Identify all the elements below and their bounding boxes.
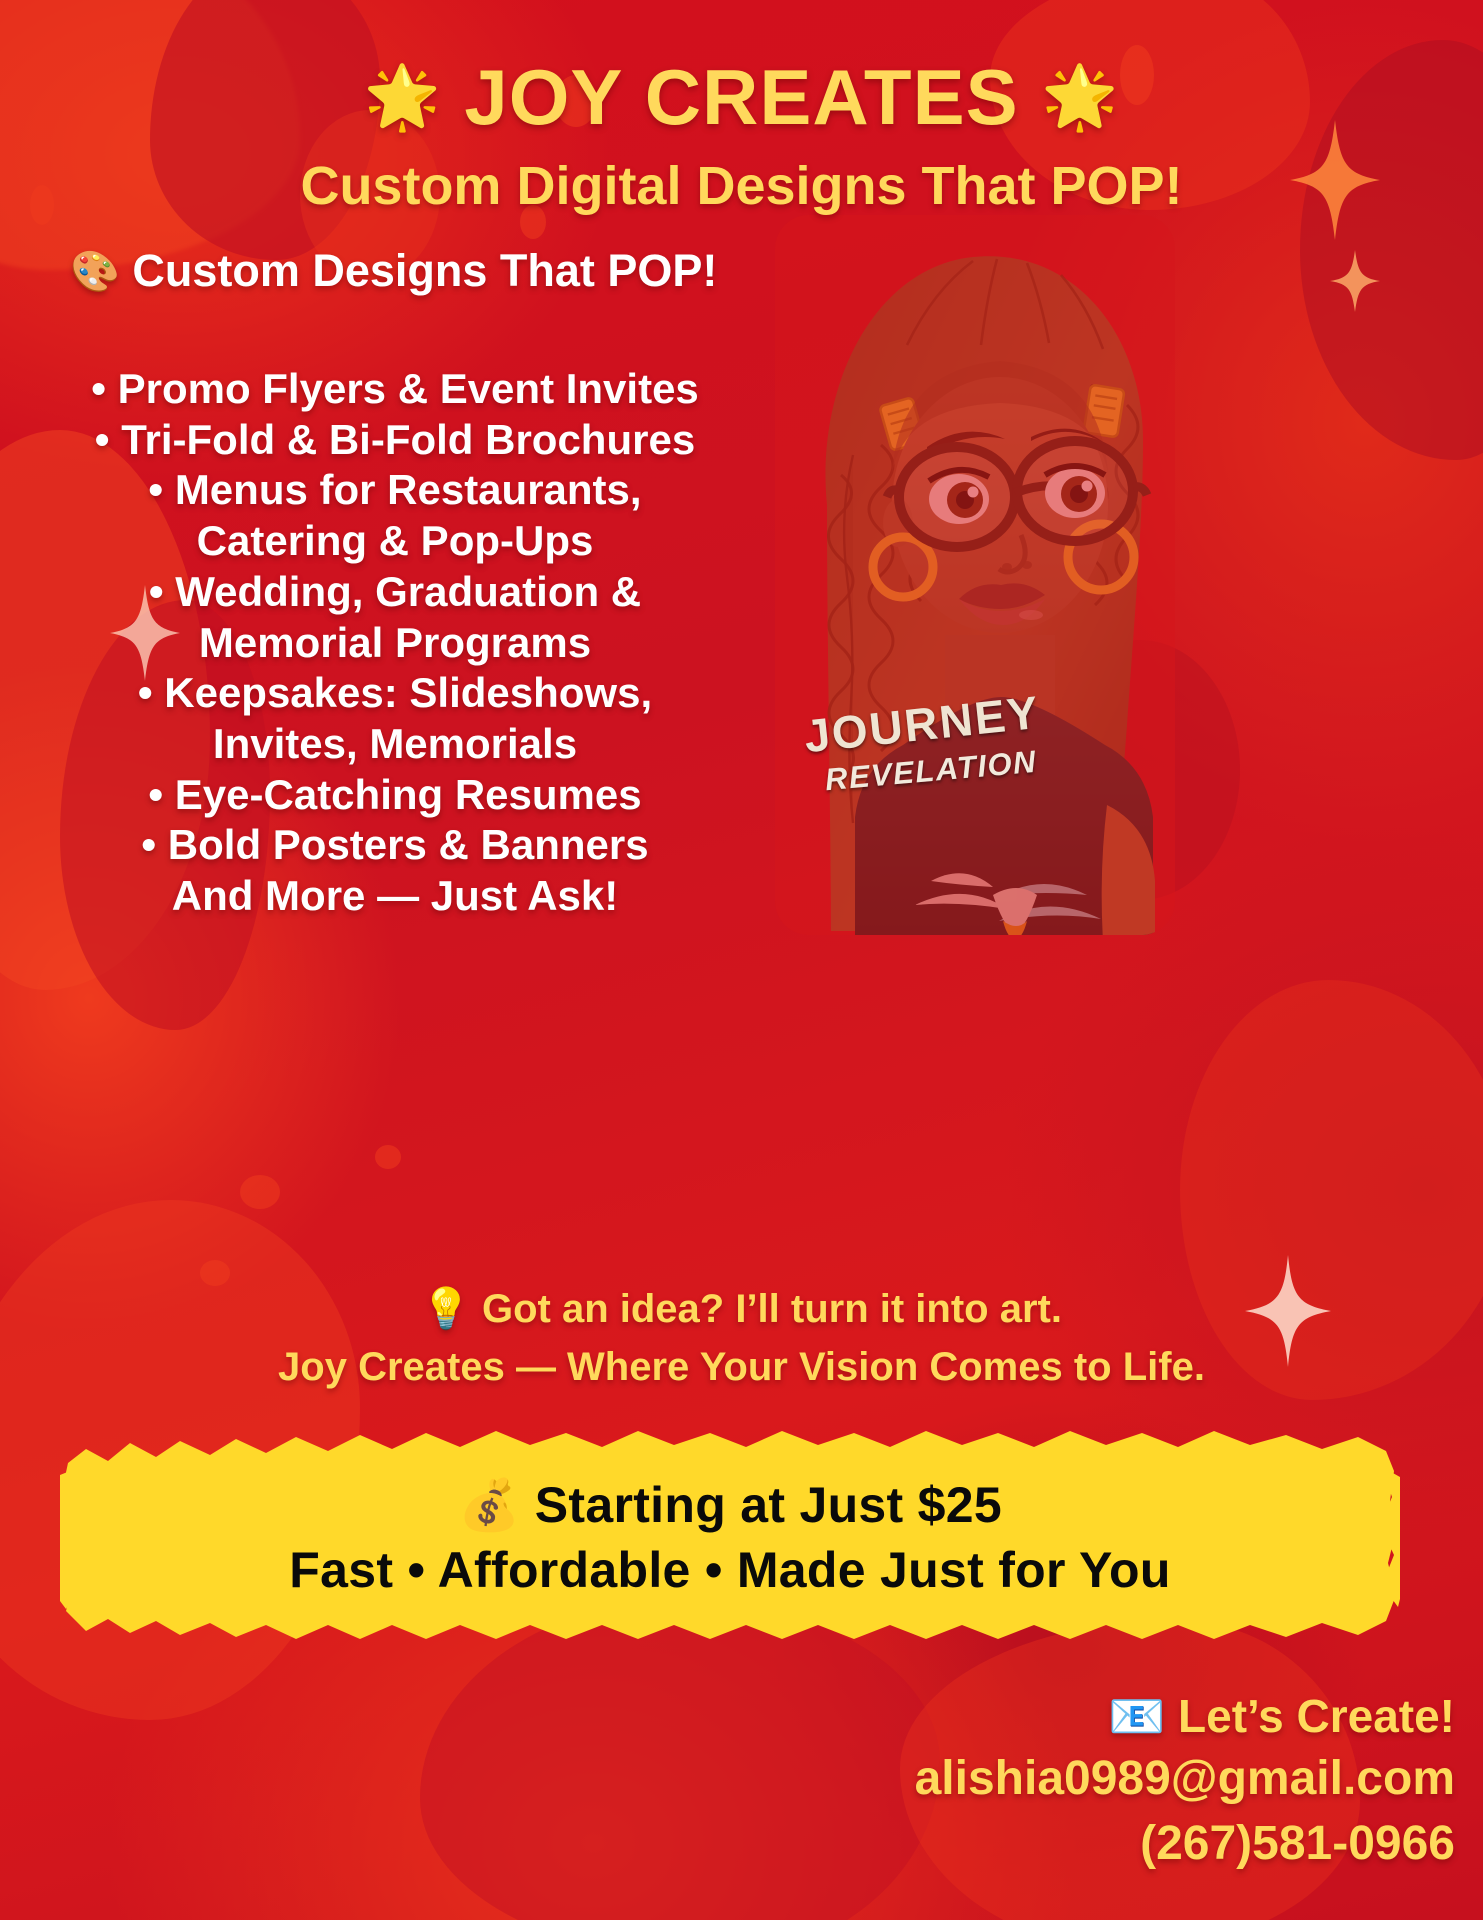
contact-cta: 📧 Let’s Create! (0, 1685, 1455, 1747)
list-item: • Eye-Catching Resumes (0, 771, 790, 820)
lead-line: 🎨 Custom Designs That POP! (70, 245, 717, 297)
banner-text-block: 💰 Starting at Just $25 Fast • Affordable… (60, 1405, 1400, 1670)
bullet-char: • (148, 771, 163, 818)
star-icon-left: 🌟 (363, 63, 441, 132)
list-item-and-more: And More — Just Ask! (0, 872, 790, 921)
email-envelope-icon: 📧 (1108, 1690, 1165, 1742)
list-item: • Bold Posters & Banners (0, 821, 790, 870)
list-item-label: Wedding, Graduation & (175, 568, 641, 615)
tagline-line-2: Joy Creates — Where Your Vision Comes to… (0, 1338, 1483, 1396)
lead-text: Custom Designs That POP! (132, 245, 717, 296)
price-banner: 💰 Starting at Just $25 Fast • Affordable… (60, 1405, 1400, 1670)
list-item: • Menus for Restaurants, (0, 466, 790, 515)
palette-icon: 🎨 (70, 250, 120, 294)
contact-email[interactable]: alishia0989@gmail.com (0, 1747, 1455, 1812)
list-item-label: Eye-Catching Resumes (175, 771, 642, 818)
tagline-line-1: 💡 Got an idea? I’ll turn it into art. (0, 1280, 1483, 1338)
bullet-char: • (91, 365, 106, 412)
list-item-label: Promo Flyers & Event Invites (118, 365, 699, 412)
benefits-line: Fast • Affordable • Made Just for You (289, 1541, 1170, 1599)
page-subtitle: Custom Digital Designs That POP! (0, 155, 1483, 217)
tagline-block: 💡 Got an idea? I’ll turn it into art. Jo… (0, 1280, 1483, 1396)
bullet-char: • (148, 466, 163, 513)
services-list: • Promo Flyers & Event Invites • Tri-Fol… (0, 365, 790, 923)
list-item: • Tri-Fold & Bi-Fold Brochures (0, 416, 790, 465)
contact-block: 📧 Let’s Create! alishia0989@gmail.com (2… (0, 1685, 1455, 1877)
list-item-continuation: Memorial Programs (0, 619, 790, 668)
price-text: Starting at Just $25 (535, 1477, 1002, 1533)
star-icon-right: 🌟 (1041, 63, 1119, 132)
bullet-char: • (141, 821, 156, 868)
bullet-char: • (138, 669, 153, 716)
contact-phone[interactable]: (267)581-0966 (0, 1812, 1455, 1877)
tagline-text-1: Got an idea? I’ll turn it into art. (482, 1287, 1062, 1331)
list-item-label: Bold Posters & Banners (168, 821, 649, 868)
bullet-char: • (149, 568, 164, 615)
list-item-continuation: Invites, Memorials (0, 720, 790, 769)
price-line: 💰 Starting at Just $25 (458, 1476, 1002, 1535)
list-item: • Promo Flyers & Event Invites (0, 365, 790, 414)
flyer-canvas: JOURNEY REVELATION 🌟 JOY CREATES 🌟 Custo… (0, 0, 1483, 1920)
list-item-label: Menus for Restaurants, (175, 466, 642, 513)
cta-text: Let’s Create! (1178, 1690, 1455, 1742)
title-text: JOY CREATES (464, 53, 1018, 141)
list-item-label: Keepsakes: Slideshows, (164, 669, 652, 716)
money-bag-icon: 💰 (458, 1477, 521, 1533)
page-title: 🌟 JOY CREATES 🌟 (0, 52, 1483, 143)
list-item: • Wedding, Graduation & (0, 568, 790, 617)
lightbulb-icon: 💡 (421, 1287, 471, 1331)
list-item-label: Tri-Fold & Bi-Fold Brochures (121, 416, 695, 463)
list-item: • Keepsakes: Slideshows, (0, 669, 790, 718)
bullet-char: • (95, 416, 110, 463)
list-item-continuation: Catering & Pop-Ups (0, 517, 790, 566)
